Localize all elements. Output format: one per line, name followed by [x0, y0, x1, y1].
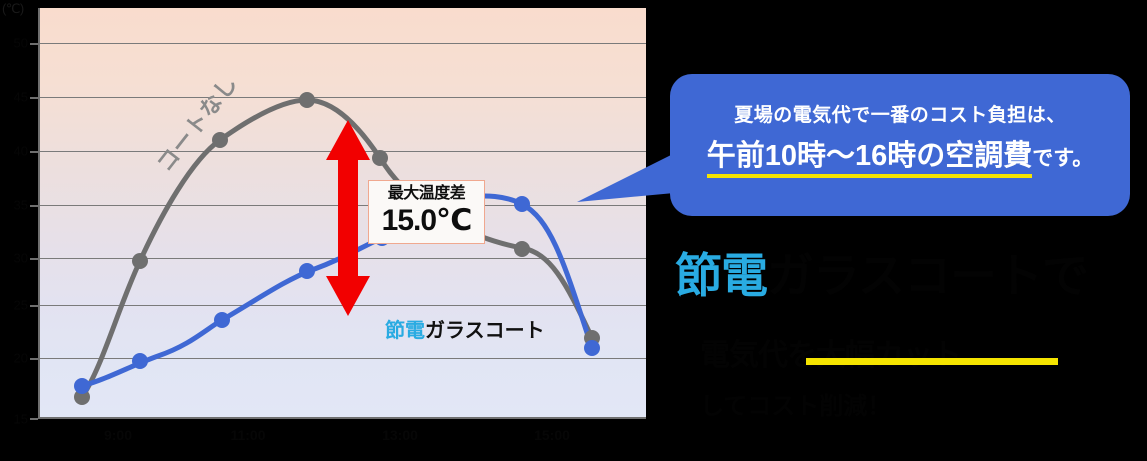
y-tick-mark — [30, 258, 38, 260]
y-axis-unit-label: (℃) — [2, 1, 24, 17]
y-tick-label-6: 20 — [0, 351, 28, 366]
max-temperature-difference-value: 15.0℃ — [375, 204, 478, 237]
headline-footnote: してコスト削減！ — [700, 386, 891, 421]
speech-bubble-line-1: 夏場の電気代で一番のコスト負担は、 — [670, 100, 1130, 127]
y-tick-label-3: 35 — [0, 198, 28, 213]
speech-bubble-tail — [575, 140, 685, 220]
x-tick-label-1: 11:00 — [193, 427, 303, 443]
plot-area: コートなし 節電ガラスコート 最大温度差 15.0℃ — [38, 8, 646, 419]
temperature-chart: (℃) 50 45 40 35 30 25 20 15 9:00 11:00 1… — [0, 0, 660, 461]
speech-bubble-line-2: 午前10時〜16時の空調費です。 — [670, 132, 1130, 174]
max-temperature-difference-title: 最大温度差 — [375, 185, 478, 203]
headline-subline: 電気代を大幅カット — [700, 330, 961, 374]
y-tick-mark — [30, 358, 38, 360]
y-tick-label-7: 15 — [0, 412, 28, 427]
max-temperature-difference-box: 最大温度差 15.0℃ — [368, 180, 485, 244]
y-tick-label-5: 25 — [0, 298, 28, 313]
y-tick-mark — [30, 205, 38, 207]
y-tick-mark — [30, 151, 38, 153]
y-tick-mark — [30, 418, 38, 420]
speech-bubble: 夏場の電気代で一番のコスト負担は、 午前10時〜16時の空調費です。 — [670, 74, 1130, 216]
series-label-coat-rest: ガラスコート — [425, 320, 545, 342]
speech-bubble-emphasis: 午前10時〜16時の空調費 — [707, 140, 1033, 178]
y-tick-mark — [30, 97, 38, 99]
poster-canvas: (℃) 50 45 40 35 30 25 20 15 9:00 11:00 1… — [0, 0, 1147, 461]
series-label-coat: 節電ガラスコート — [385, 314, 545, 343]
y-tick-label-0: 50 — [0, 36, 28, 51]
headline: 節電ガラスコートで — [675, 252, 1088, 299]
y-tick-mark — [30, 305, 38, 307]
x-tick-label-0: 9:00 — [63, 427, 173, 443]
y-tick-label-4: 30 — [0, 251, 28, 266]
y-tick-label-2: 40 — [0, 144, 28, 159]
y-tick-label-1: 45 — [0, 90, 28, 105]
headline-accent: 節電 — [675, 249, 767, 302]
speech-bubble-suffix: です。 — [1032, 147, 1093, 170]
y-tick-mark — [30, 43, 38, 45]
headline-underline-rule — [806, 358, 1058, 365]
headline-rest: ガラスコートで — [767, 249, 1088, 302]
x-tick-label-2: 13:00 — [345, 427, 455, 443]
x-tick-label-3: 15:00 — [497, 427, 607, 443]
series-label-coat-accent: 節電 — [385, 320, 425, 342]
